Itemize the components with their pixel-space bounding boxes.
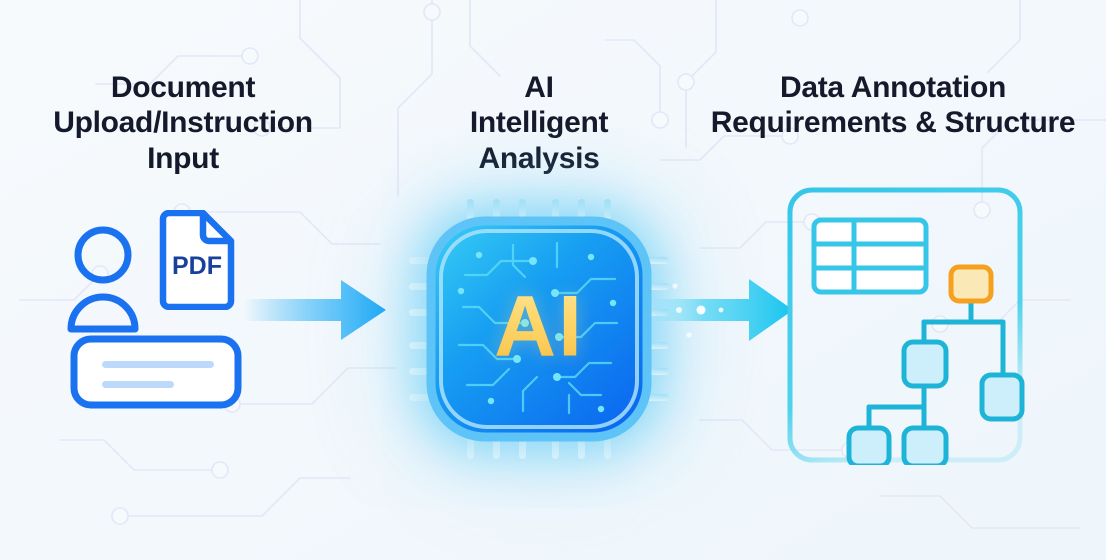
- pdf-label: PDF: [172, 252, 222, 280]
- diagram-canvas: Document Upload/Instruction Input AI Int…: [0, 0, 1106, 560]
- arrow-input-to-ai: [243, 268, 388, 352]
- person-icon: [67, 223, 153, 335]
- leaf-node-1: [849, 428, 889, 465]
- root-node: [951, 267, 991, 301]
- leaf-node-2: [904, 428, 946, 465]
- pdf-document-icon: PDF: [157, 210, 237, 310]
- stage-heading-input: Document Upload/Instruction Input: [18, 70, 348, 176]
- input-icon-group: PDF: [58, 205, 258, 410]
- ai-chip: AI: [405, 195, 673, 463]
- stage-heading-ai: AI Intelligent Analysis: [418, 70, 660, 176]
- data-table-icon: [814, 220, 926, 292]
- stage-heading-output: Data Annotation Requirements & Structure: [698, 70, 1088, 141]
- output-structure-group: [785, 185, 1025, 465]
- instruction-card-icon: [70, 335, 242, 409]
- arrow-ai-to-output: [655, 268, 795, 352]
- branch-node-1: [904, 342, 946, 386]
- branch-node-2: [982, 375, 1022, 419]
- ai-chip-label: AI: [405, 278, 673, 377]
